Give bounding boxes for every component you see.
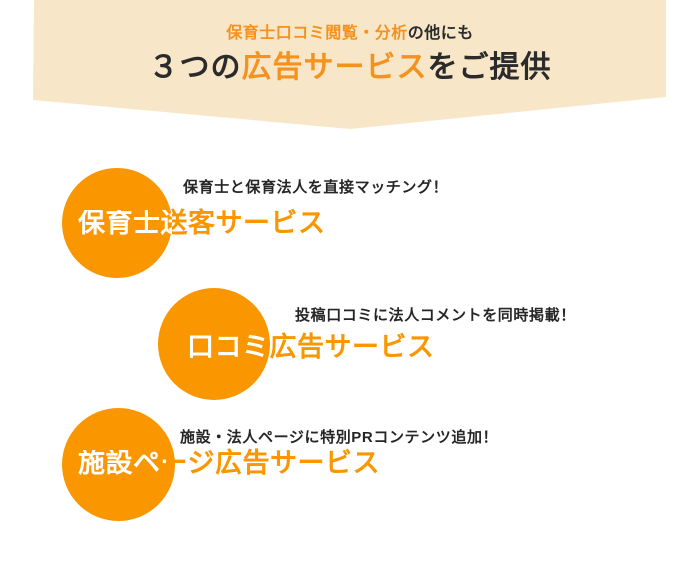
service-title-wrap: 保育士送客サービス 保育士送客サービス	[78, 210, 326, 237]
service-title-circle-clip: 保育士送客サービス	[78, 210, 172, 270]
header-title-highlight: 広告サービス	[242, 51, 428, 84]
service-caption: 施設・法人ページに特別PRコンテンツ追加！	[180, 426, 498, 447]
header-banner: 保育士口コミ閲覧・分析の他にも ３つの広告サービスをご提供	[0, 0, 700, 135]
service-title-circle-clip: 施設ページ広告サービス	[78, 450, 166, 510]
header-title-suffix: をご提供	[428, 51, 552, 84]
service-title-overlay: 口コミ広告サービス	[187, 334, 268, 361]
service-title-wrap: 口コミ広告サービス 口コミ広告サービス	[187, 334, 435, 361]
header-subtitle-rest: の他にも	[408, 25, 474, 42]
header-text-block: 保育士口コミ閲覧・分析の他にも ３つの広告サービスをご提供	[0, 0, 700, 110]
service-title-overlay: 保育士送客サービス	[78, 210, 172, 237]
service-title-wrap: 施設ページ広告サービス 施設ページ広告サービス	[78, 450, 380, 477]
service-caption: 保育士と保育法人を直接マッチング！	[183, 176, 448, 197]
service-title-overlay: 施設ページ広告サービス	[78, 450, 166, 477]
service-title-circle-clip: 口コミ広告サービス	[187, 334, 268, 394]
header-subtitle: 保育士口コミ閲覧・分析の他にも	[226, 24, 474, 43]
service-caption: 投稿口コミに法人コメントを同時掲載！	[295, 304, 576, 325]
header-title-prefix: ３つの	[149, 51, 242, 84]
header-subtitle-highlight: 保育士口コミ閲覧・分析	[226, 25, 408, 42]
header-title: ３つの広告サービスをご提供	[149, 50, 552, 86]
